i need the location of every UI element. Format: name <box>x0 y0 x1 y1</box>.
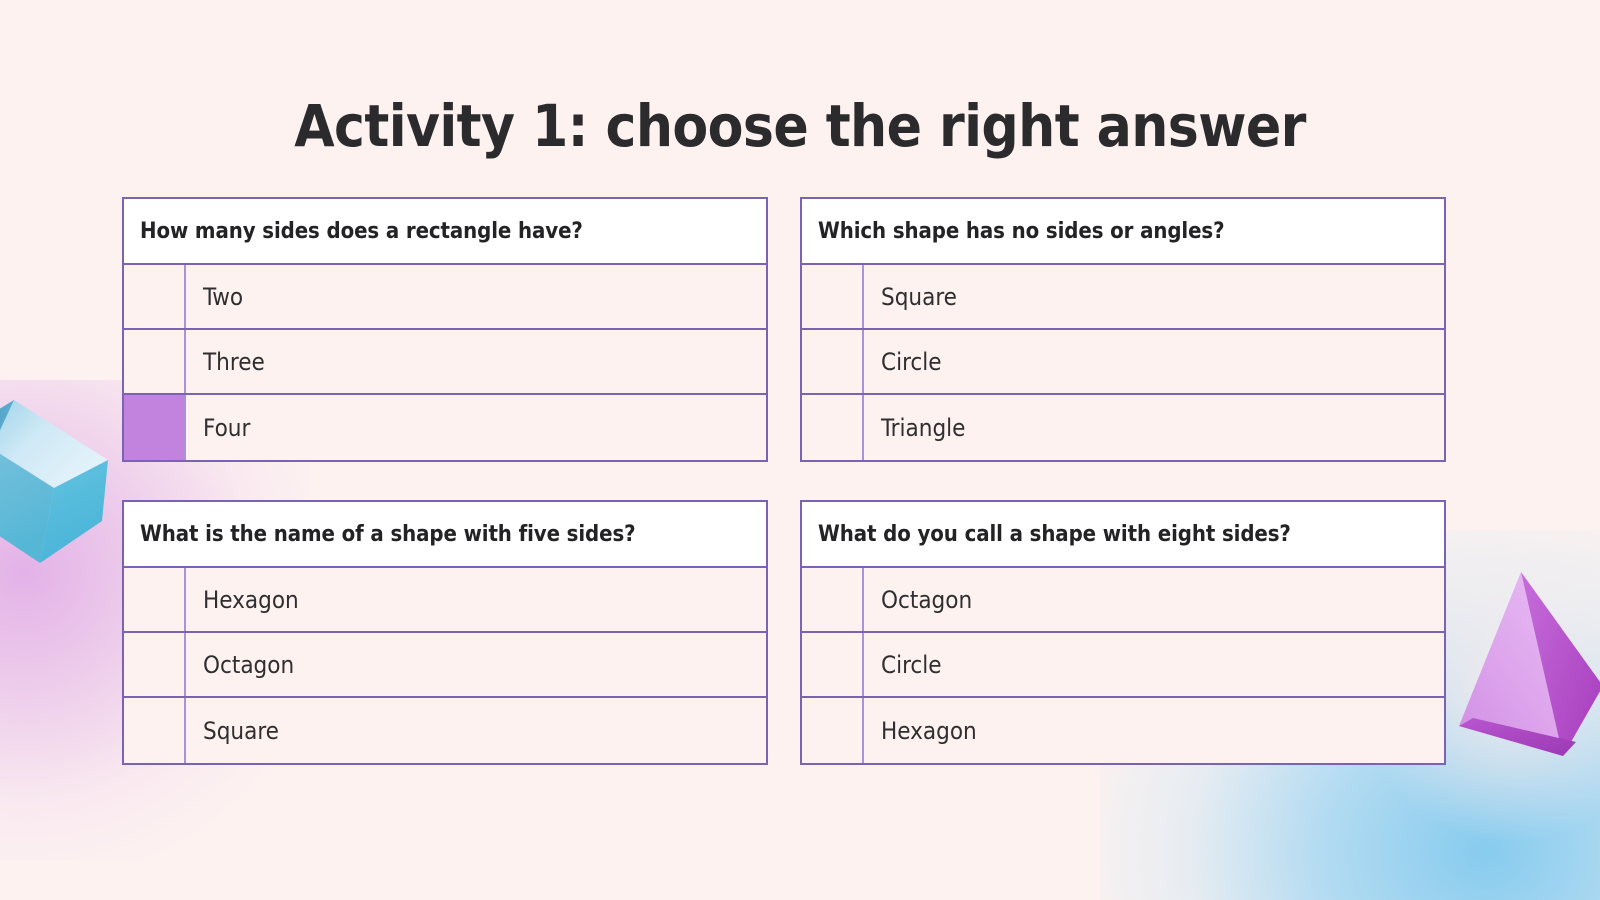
option-checkbox[interactable] <box>124 330 186 393</box>
option-row[interactable]: Triangle <box>802 395 1444 460</box>
option-label: Three <box>186 330 766 393</box>
options-list: Hexagon Octagon Square <box>124 568 766 763</box>
option-row[interactable]: Four <box>124 395 766 460</box>
option-row[interactable]: Two <box>124 265 766 330</box>
option-label: Square <box>864 265 1444 328</box>
option-label: Octagon <box>186 633 766 696</box>
option-row[interactable]: Three <box>124 330 766 395</box>
option-row[interactable]: Circle <box>802 330 1444 395</box>
option-checkbox[interactable] <box>124 568 186 631</box>
option-label: Two <box>186 265 766 328</box>
option-checkbox-selected[interactable] <box>124 395 186 460</box>
option-checkbox[interactable] <box>124 633 186 696</box>
option-label: Hexagon <box>186 568 766 631</box>
option-checkbox[interactable] <box>802 633 864 696</box>
option-checkbox[interactable] <box>802 330 864 393</box>
option-row[interactable]: Circle <box>802 633 1444 698</box>
question-text: Which shape has no sides or angles? <box>802 199 1444 265</box>
option-label: Octagon <box>864 568 1444 631</box>
option-row[interactable]: Square <box>124 698 766 763</box>
quiz-card: Which shape has no sides or angles? Squa… <box>800 197 1446 462</box>
option-label: Square <box>186 698 766 763</box>
option-row[interactable]: Square <box>802 265 1444 330</box>
pyramid-icon <box>1443 566 1600 766</box>
option-row[interactable]: Octagon <box>802 568 1444 633</box>
option-row[interactable]: Octagon <box>124 633 766 698</box>
option-checkbox[interactable] <box>802 568 864 631</box>
question-text: How many sides does a rectangle have? <box>124 199 766 265</box>
option-checkbox[interactable] <box>802 395 864 460</box>
options-list: Square Circle Triangle <box>802 265 1444 460</box>
option-label: Four <box>186 395 766 460</box>
option-checkbox[interactable] <box>802 698 864 763</box>
option-row[interactable]: Hexagon <box>124 568 766 633</box>
option-checkbox[interactable] <box>802 265 864 328</box>
quiz-card: How many sides does a rectangle have? Tw… <box>122 197 768 462</box>
option-row[interactable]: Hexagon <box>802 698 1444 763</box>
quiz-card: What do you call a shape with eight side… <box>800 500 1446 765</box>
quiz-grid: How many sides does a rectangle have? Tw… <box>122 197 1446 765</box>
page-title: Activity 1: choose the right answer <box>0 92 1600 160</box>
option-checkbox[interactable] <box>124 265 186 328</box>
cube-icon <box>0 383 137 573</box>
option-label: Hexagon <box>864 698 1444 763</box>
options-list: Two Three Four <box>124 265 766 460</box>
quiz-card: What is the name of a shape with five si… <box>122 500 768 765</box>
question-text: What is the name of a shape with five si… <box>124 502 766 568</box>
option-label: Triangle <box>864 395 1444 460</box>
option-label: Circle <box>864 633 1444 696</box>
option-checkbox[interactable] <box>124 698 186 763</box>
options-list: Octagon Circle Hexagon <box>802 568 1444 763</box>
option-label: Circle <box>864 330 1444 393</box>
question-text: What do you call a shape with eight side… <box>802 502 1444 568</box>
